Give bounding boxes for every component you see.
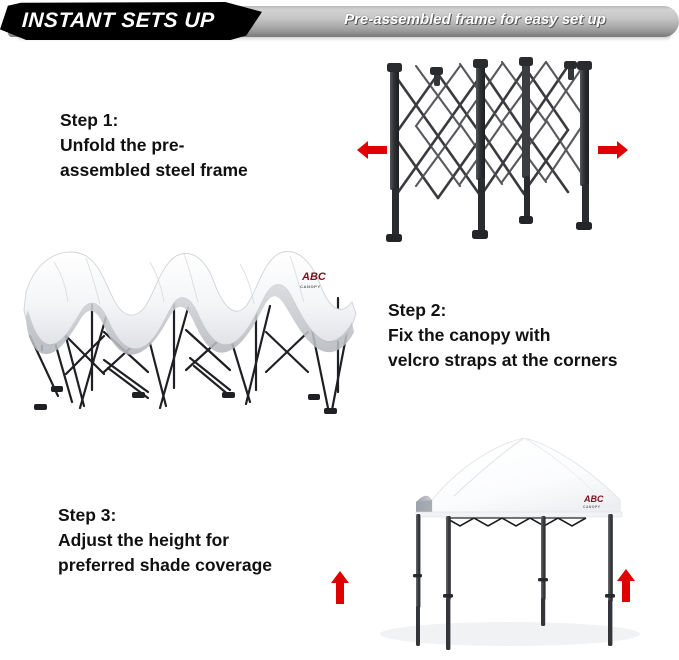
step-2-line-1: Fix the canopy with (388, 323, 618, 348)
canopy-draped-illustration: ABC CANOPY (8, 240, 368, 430)
arrow-up-right-icon (615, 568, 637, 604)
folded-steel-frame-illustration (372, 52, 612, 252)
page-title: INSTANT SETS UP (21, 9, 215, 33)
under-roof-truss (446, 518, 586, 526)
frame-legs (386, 60, 592, 242)
arrow-up-left-icon (329, 570, 351, 606)
brand-logo: ABC CANOPY (300, 271, 327, 289)
svg-text:CANOPY: CANOPY (300, 284, 321, 289)
step-3-line-2: preferred shade coverage (58, 553, 272, 578)
step-3-label: Step 3: (58, 503, 272, 528)
header-banner: INSTANT SETS UP Pre-assembled frame for … (0, 0, 679, 48)
frame-top-caps (387, 57, 592, 75)
svg-text:ABC: ABC (583, 494, 604, 504)
arrow-right-icon (596, 139, 630, 161)
step-2-text-block: Step 2: Fix the canopy with velcro strap… (388, 298, 618, 373)
step-3-line-1: Adjust the height for (58, 528, 272, 553)
step-1-line-1: Unfold the pre- (60, 133, 248, 158)
step-1-line-2: assembled steel frame (60, 158, 248, 183)
step-1-label: Step 1: (60, 108, 248, 133)
step-1-text-block: Step 1: Unfold the pre- assembled steel … (60, 108, 248, 183)
svg-text:CANOPY: CANOPY (583, 505, 601, 509)
step-2-label: Step 2: (388, 298, 618, 323)
step-3-text-block: Step 3: Adjust the height for preferred … (58, 503, 272, 578)
frame-scissor-trusses (394, 62, 586, 198)
canopy-fabric-drape (24, 252, 356, 355)
arrow-left-icon (355, 139, 389, 161)
assembled-canopy-illustration: ABC CANOPY (320, 428, 679, 660)
svg-text:ABC: ABC (301, 271, 327, 283)
step-2-line-2: velcro straps at the corners (388, 348, 618, 373)
header-subtitle: Pre-assembled frame for easy set up (296, 11, 654, 28)
